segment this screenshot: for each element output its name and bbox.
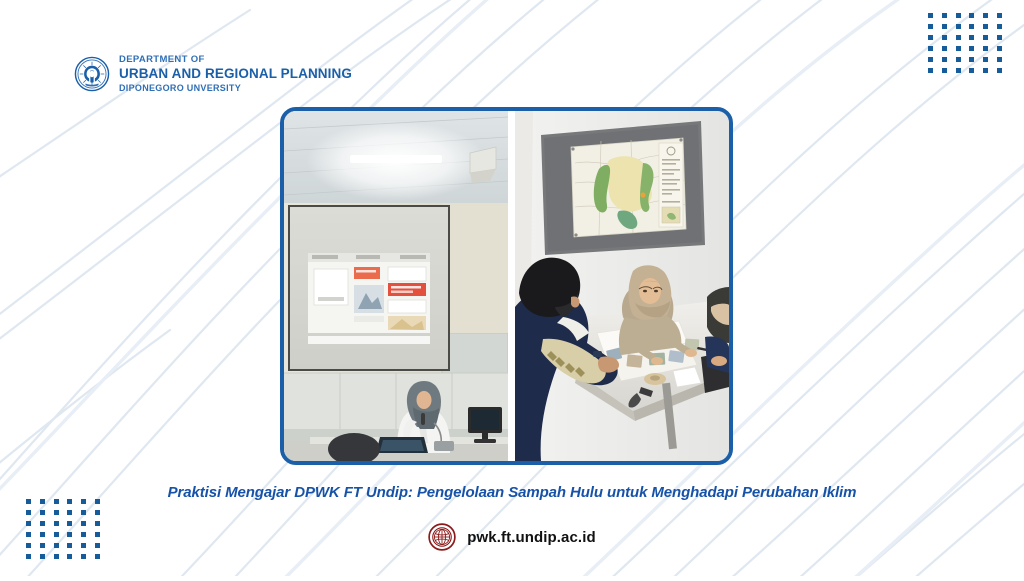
website-url-text[interactable]: pwk.ft.undip.ac.id	[467, 529, 595, 546]
photo-classroom-presentation	[284, 111, 508, 461]
grid-dot	[928, 68, 933, 73]
photo-collage-frame	[280, 107, 733, 465]
department-logo-lockup: DEPARTMENT OF URBAN AND REGIONAL PLANNIN…	[74, 55, 352, 93]
grid-dot	[956, 13, 961, 18]
grid-dot	[928, 46, 933, 51]
grid-dot	[956, 57, 961, 62]
globe-icon	[428, 523, 456, 551]
grid-dot	[969, 46, 974, 51]
grid-dot	[956, 24, 961, 29]
grid-dot	[997, 46, 1002, 51]
grid-dot	[81, 510, 86, 515]
grid-dot	[942, 68, 947, 73]
grid-dot	[40, 554, 45, 559]
dept-line-university: DIPONEGORO UNVERSITY	[119, 84, 352, 93]
grid-dot	[997, 35, 1002, 40]
grid-dot	[969, 68, 974, 73]
grid-dot	[983, 68, 988, 73]
grid-dot	[928, 24, 933, 29]
grid-dot	[997, 24, 1002, 29]
event-caption: Praktisi Mengajar DPWK FT Undip: Pengelo…	[0, 484, 1024, 501]
grid-dot	[956, 68, 961, 73]
grid-dot	[26, 554, 31, 559]
grid-dot	[997, 68, 1002, 73]
grid-dot	[95, 510, 100, 515]
grid-dot	[942, 46, 947, 51]
grid-dot	[942, 35, 947, 40]
department-text-block: DEPARTMENT OF URBAN AND REGIONAL PLANNIN…	[119, 55, 352, 93]
website-row[interactable]: pwk.ft.undip.ac.id	[0, 523, 1024, 551]
grid-dot	[969, 13, 974, 18]
dot-grid-top-right	[924, 10, 1006, 76]
grid-dot	[969, 57, 974, 62]
grid-dot	[95, 554, 100, 559]
grid-dot	[969, 35, 974, 40]
grid-dot	[942, 24, 947, 29]
grid-dot	[26, 510, 31, 515]
grid-dot	[928, 57, 933, 62]
grid-dot	[983, 13, 988, 18]
grid-dot	[983, 46, 988, 51]
grid-dot	[942, 57, 947, 62]
grid-dot	[67, 554, 72, 559]
dept-line-program-name: URBAN AND REGIONAL PLANNING	[119, 67, 352, 81]
grid-dot	[67, 510, 72, 515]
photo-divider	[508, 111, 515, 461]
grid-dot	[997, 13, 1002, 18]
grid-dot	[956, 46, 961, 51]
grid-dot	[956, 35, 961, 40]
grid-dot	[40, 510, 45, 515]
photo-group-discussion	[515, 111, 729, 461]
grid-dot	[54, 554, 59, 559]
dept-line-department-of: DEPARTMENT OF	[119, 55, 352, 65]
grid-dot	[54, 510, 59, 515]
grid-dot	[928, 13, 933, 18]
grid-dot	[942, 13, 947, 18]
undip-seal-icon	[74, 56, 110, 92]
grid-dot	[928, 35, 933, 40]
grid-dot	[969, 24, 974, 29]
grid-dot	[997, 57, 1002, 62]
grid-dot	[983, 24, 988, 29]
grid-dot	[983, 57, 988, 62]
grid-dot	[81, 554, 86, 559]
grid-dot	[983, 35, 988, 40]
